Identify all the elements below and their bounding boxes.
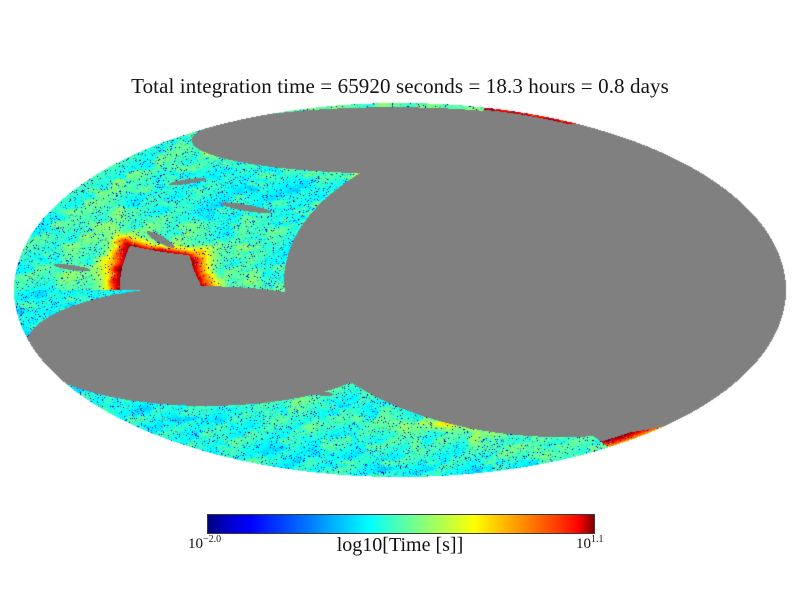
colorbar bbox=[207, 514, 595, 534]
colorbar-label: log10[Time [s]] bbox=[0, 534, 800, 557]
page-title: Total integration time = 65920 seconds =… bbox=[0, 74, 800, 99]
colorbar-gradient bbox=[207, 514, 595, 534]
sky-map-figure: Total integration time = 65920 seconds =… bbox=[0, 0, 800, 600]
